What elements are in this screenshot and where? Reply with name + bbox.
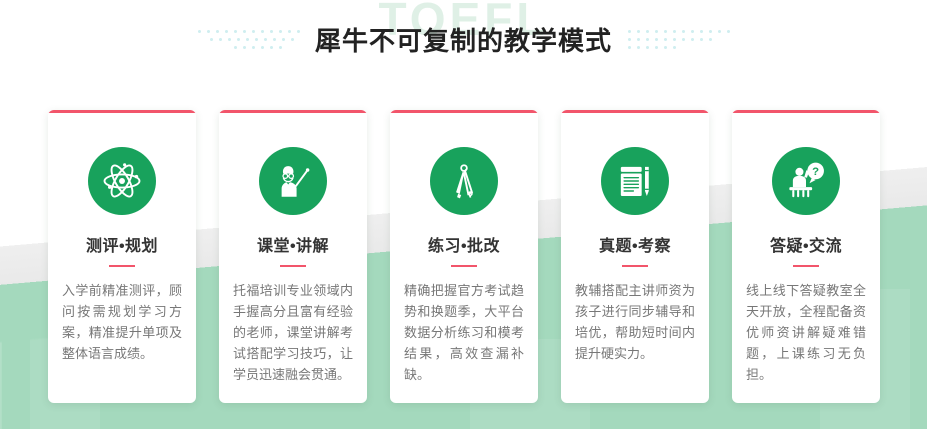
card-divider — [280, 265, 306, 267]
atom-icon — [88, 147, 156, 215]
dot-decoration-right — [628, 30, 748, 54]
feature-card[interactable]: 练习•批改 精确把握官方考试趋势和换题季，大平台数据分析练习和模考结果，高效查漏… — [390, 110, 538, 403]
card-body-text: 入学前精准测评，顾问按需规划学习方案，精准提升单项及整体语言成绩。 — [60, 280, 184, 364]
card-title: 练习•批改 — [402, 232, 526, 256]
card-title: 测评•规划 — [60, 232, 184, 256]
card-body-text: 托福培训专业领域内手握高分且富有经验的老师，课堂讲解考试搭配学习技巧，让学员迅速… — [231, 280, 355, 385]
feature-card[interactable]: 真题•考察 教辅搭配主讲师资为孩子进行同步辅导和培优，帮助短时间内提升硬实力。 — [561, 110, 709, 403]
dot-row — [198, 30, 318, 33]
card-title: 答疑•交流 — [744, 232, 868, 256]
compass-divider-icon — [430, 147, 498, 215]
card-title: 课堂•讲解 — [231, 232, 355, 256]
card-title: 真题•考察 — [573, 232, 697, 256]
page-title: 犀牛不可复制的教学模式 — [0, 24, 927, 58]
teacher-pointer-icon — [259, 147, 327, 215]
feature-card-list: 测评•规划 入学前精准测评，顾问按需规划学习方案，精准提升单项及整体语言成绩。 — [48, 110, 880, 403]
dot-row — [628, 38, 748, 41]
card-body-text: 精确把握官方考试趋势和换题季，大平台数据分析练习和模考结果，高效查漏补缺。 — [402, 280, 526, 385]
exam-paper-pencil-icon — [601, 147, 669, 215]
dot-row — [234, 46, 318, 49]
card-body-text: 教辅搭配主讲师资为孩子进行同步辅导和培优，帮助短时间内提升硬实力。 — [573, 280, 697, 364]
card-divider — [109, 265, 135, 267]
header: TOEFL 犀牛不可复制的教学模式 — [0, 0, 927, 86]
dot-row — [628, 46, 748, 49]
student-question-icon: ? — [772, 147, 840, 215]
feature-card[interactable]: 测评•规划 入学前精准测评，顾问按需规划学习方案，精准提升单项及整体语言成绩。 — [48, 110, 196, 403]
card-top-accent-bar — [219, 110, 367, 113]
card-top-accent-bar — [48, 110, 196, 113]
feature-card[interactable]: ? 答疑•交流 线上线下答疑教室全天开放，全程配备资优师资讲解疑难错题，上课练习… — [732, 110, 880, 403]
card-top-accent-bar — [561, 110, 709, 113]
dot-row — [628, 30, 748, 33]
card-divider — [451, 265, 477, 267]
svg-text:?: ? — [812, 166, 819, 178]
card-top-accent-bar — [390, 110, 538, 113]
card-divider — [622, 265, 648, 267]
promo-banner: TOEFL 犀牛不可复制的教学模式 — [0, 0, 927, 429]
card-body-text: 线上线下答疑教室全天开放，全程配备资优师资讲解疑难错题，上课练习无负担。 — [744, 280, 868, 385]
dot-row — [210, 38, 318, 41]
card-divider — [793, 265, 819, 267]
card-top-accent-bar — [732, 110, 880, 113]
dot-decoration-left — [198, 30, 318, 54]
feature-card[interactable]: 课堂•讲解 托福培训专业领域内手握高分且富有经验的老师，课堂讲解考试搭配学习技巧… — [219, 110, 367, 403]
